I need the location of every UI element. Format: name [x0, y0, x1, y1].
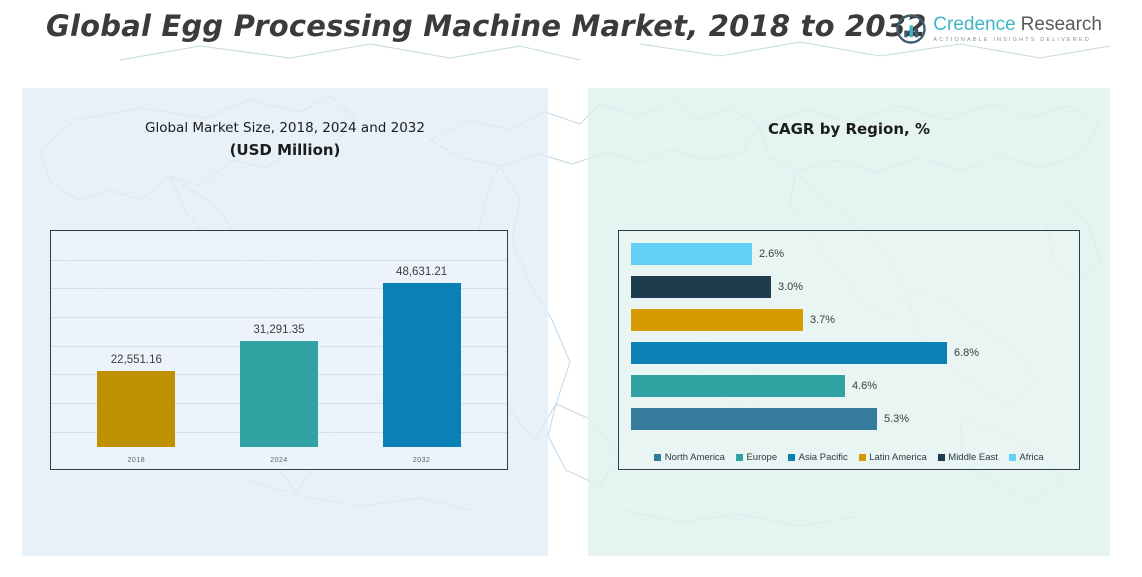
bar-row[interactable]: 6.8%	[619, 342, 1079, 364]
legend-label: Asia Pacific	[799, 452, 848, 463]
legend-item[interactable]: Asia Pacific	[788, 452, 848, 463]
bar-2018[interactable]	[97, 371, 175, 447]
legend-label: Latin America	[869, 452, 927, 463]
bar-row[interactable]: 5.3%	[619, 408, 1079, 430]
legend-swatch-icon	[1009, 454, 1016, 461]
bar-value-label: 3.7%	[810, 314, 835, 326]
legend-swatch-icon	[859, 454, 866, 461]
logo-tagline: Actionable Insights Delivered	[933, 38, 1102, 44]
bar-europe[interactable]	[631, 375, 845, 397]
cagr-bar-chart: 2.6%3.0%3.7%6.8%4.6%5.3% North AmericaEu…	[618, 230, 1080, 470]
bar-row[interactable]: 4.6%	[619, 375, 1079, 397]
bar-column[interactable]: 31,291.352024	[220, 231, 338, 447]
market-size-bar-chart: 22,551.16201831,291.35202448,631.212032	[50, 230, 508, 470]
market-size-panel: Global Market Size, 2018, 2024 and 2032 …	[22, 88, 548, 556]
logo-name-primary: Credence	[933, 15, 1015, 34]
market-size-title-line2: (USD Million)	[22, 141, 548, 159]
bar-2032[interactable]	[383, 283, 461, 447]
bar-asia-pacific[interactable]	[631, 342, 947, 364]
legend-item[interactable]: Africa	[1009, 452, 1044, 463]
bar-value-label: 22,551.16	[111, 354, 162, 366]
bar-value-label: 2.6%	[759, 248, 784, 260]
bar-africa[interactable]	[631, 243, 752, 265]
legend-swatch-icon	[788, 454, 795, 461]
bar-column[interactable]: 48,631.212032	[363, 231, 481, 447]
legend-label: Europe	[746, 452, 777, 463]
bar-chart-circle-icon	[896, 14, 926, 44]
bar-north-america[interactable]	[631, 408, 877, 430]
bar-column[interactable]: 22,551.162018	[77, 231, 195, 447]
bar-value-label: 4.6%	[852, 380, 877, 392]
logo-name-secondary: Research	[1021, 15, 1102, 34]
legend-swatch-icon	[654, 454, 661, 461]
legend-item[interactable]: Latin America	[859, 452, 927, 463]
bar-2024[interactable]	[240, 341, 318, 447]
legend-label: North America	[665, 452, 725, 463]
cagr-title: CAGR by Region, %	[588, 120, 1110, 138]
bar-value-label: 3.0%	[778, 281, 803, 293]
horizontal-bar-group: 2.6%3.0%3.7%6.8%4.6%5.3%	[619, 243, 1079, 430]
bar-value-label: 5.3%	[884, 413, 909, 425]
cagr-panel: CAGR by Region, % 2.6%3.0%3.7%6.8%4.6%5.…	[588, 88, 1110, 556]
legend-swatch-icon	[736, 454, 743, 461]
legend-item[interactable]: North America	[654, 452, 725, 463]
cagr-legend: North AmericaEuropeAsia PacificLatin Ame…	[619, 452, 1079, 463]
bar-middle-east[interactable]	[631, 276, 771, 298]
x-axis-tick-label: 2032	[413, 457, 431, 464]
bar-value-label: 48,631.21	[396, 266, 447, 278]
bar-row[interactable]: 3.0%	[619, 276, 1079, 298]
bar-row[interactable]: 3.7%	[619, 309, 1079, 331]
legend-item[interactable]: Europe	[736, 452, 777, 463]
header: Global Egg Processing Machine Market, 20…	[0, 0, 1142, 88]
credence-research-logo: Credence Research Actionable Insights De…	[896, 14, 1102, 44]
market-size-title-line1: Global Market Size, 2018, 2024 and 2032	[22, 120, 548, 136]
bar-value-label: 31,291.35	[253, 324, 304, 336]
x-axis-tick-label: 2018	[128, 457, 146, 464]
x-axis-tick-label: 2024	[270, 457, 288, 464]
bar-value-label: 6.8%	[954, 347, 979, 359]
legend-label: Africa	[1019, 452, 1043, 463]
vertical-bar-group: 22,551.16201831,291.35202448,631.212032	[51, 231, 507, 469]
legend-swatch-icon	[938, 454, 945, 461]
page-title: Global Egg Processing Machine Market, 20…	[46, 9, 927, 43]
bar-latin-america[interactable]	[631, 309, 803, 331]
legend-label: Middle East	[948, 452, 998, 463]
bar-row[interactable]: 2.6%	[619, 243, 1079, 265]
legend-item[interactable]: Middle East	[938, 452, 998, 463]
